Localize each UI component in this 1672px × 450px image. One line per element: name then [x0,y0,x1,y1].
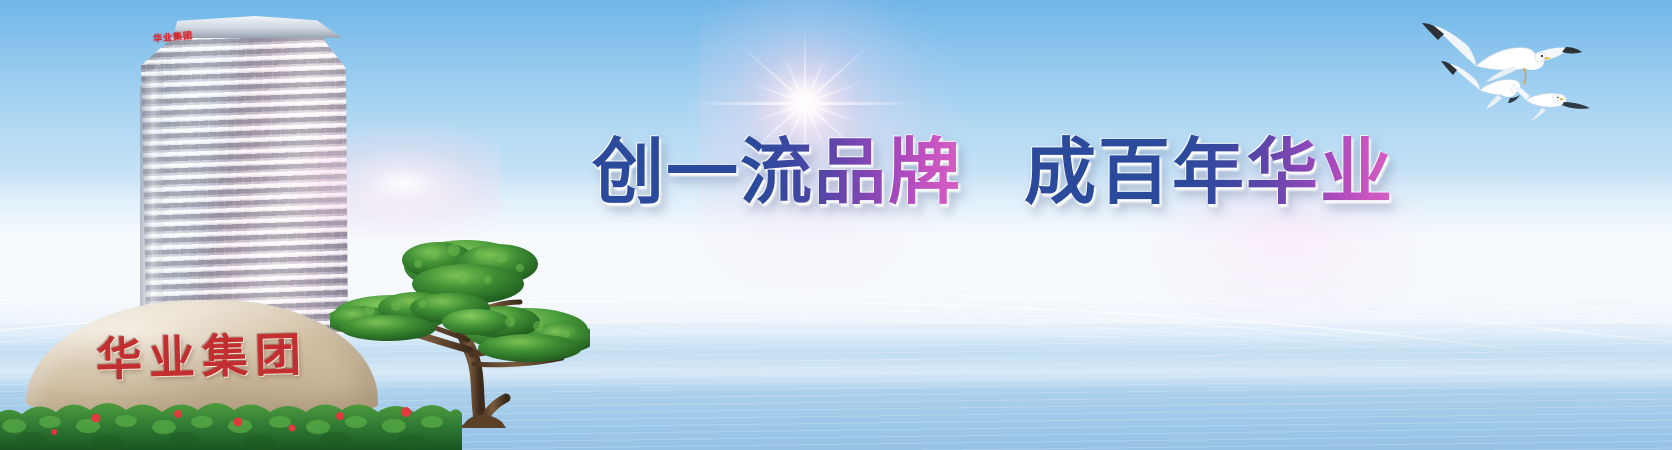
rock-engraving: 华业集团 [95,328,308,386]
seagull-group [1380,4,1672,134]
slogan-line-2: 成百年华业 [1024,131,1394,213]
tower-left-edge [140,59,163,334]
hedge-row [0,388,462,450]
banner-slogan: 创一流品牌 成百年华业 [592,131,1394,213]
slogan-line-1: 创一流品牌 [592,131,962,213]
office-tower: 华业集团 [138,14,348,334]
hero-banner: 华业集团 创一流品牌 成百年华业 [0,0,1672,450]
tower-mullions [138,14,348,334]
seagull-icon [1422,23,1582,84]
seagull-icon [1510,83,1590,121]
sun-flare-icon [805,103,806,104]
